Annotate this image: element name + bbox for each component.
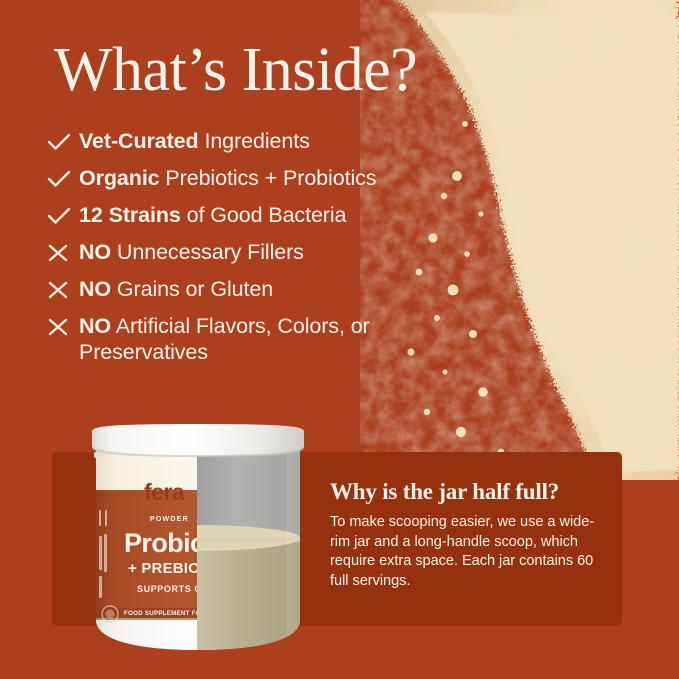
check-icon bbox=[45, 165, 75, 191]
page-title: What’s Inside? bbox=[54, 38, 417, 103]
product-name: Probiotic bbox=[124, 528, 197, 559]
list-item-rest: of Good Bacteria bbox=[181, 203, 347, 227]
list-item-emphasis: NO bbox=[79, 240, 111, 264]
list-item-text: NO Artificial Flavors, Colors, or Preser… bbox=[79, 313, 475, 365]
list-item-emphasis: Organic bbox=[79, 166, 160, 190]
info-card-title: Why is the jar half full? bbox=[330, 478, 610, 506]
list-item-emphasis: Vet-Curated bbox=[79, 129, 199, 153]
list-item-emphasis: NO bbox=[79, 277, 111, 301]
list-item-rest: Prebiotics + Probiotics bbox=[160, 166, 377, 190]
list-item-rest: Ingredients bbox=[199, 129, 310, 153]
list-item-rest: Grains or Gluten bbox=[111, 277, 273, 301]
list-item-text: 12 Strains of Good Bacteria bbox=[79, 202, 346, 228]
list-item-emphasis: NO bbox=[79, 314, 111, 338]
list-item-rest: Artificial Flavors, Colors, or Preservat… bbox=[79, 314, 370, 364]
product-subname: + PREBIOTIC bbox=[128, 560, 197, 577]
list-item: Vet-Curated Ingredients bbox=[45, 128, 475, 154]
list-item: Organic Prebiotics + Probiotics bbox=[45, 165, 475, 191]
product-claim: SUPPORTS GUT HEALTH bbox=[137, 584, 197, 594]
cross-icon bbox=[45, 276, 75, 302]
product-eyebrow: POWDER bbox=[150, 516, 189, 523]
cross-icon bbox=[45, 239, 75, 265]
promo-graphic: What’s Inside? Vet-Curated Ingredients O… bbox=[0, 0, 679, 679]
check-icon bbox=[45, 128, 75, 154]
list-item: NO Grains or Gluten bbox=[45, 276, 475, 302]
list-item-text: NO Unnecessary Fillers bbox=[79, 239, 304, 265]
list-item-text: NO Grains or Gluten bbox=[79, 276, 273, 302]
list-item: NO Artificial Flavors, Colors, or Preser… bbox=[45, 313, 475, 365]
cross-icon bbox=[45, 313, 75, 339]
list-item-text: Vet-Curated Ingredients bbox=[79, 128, 310, 154]
list-item: NO Unnecessary Fillers bbox=[45, 239, 475, 265]
check-icon bbox=[45, 202, 75, 228]
feature-list: Vet-Curated Ingredients Organic Prebioti… bbox=[45, 128, 475, 376]
product-footer: FOOD SUPPLEMENT FOR DOGS & CATS bbox=[124, 610, 197, 617]
info-card-body: To make scooping easier, we use a wide-r… bbox=[330, 513, 610, 591]
info-card-text: Why is the jar half full? To make scoopi… bbox=[330, 478, 610, 591]
product-jar-image: fera POWDER Probiotic + PREBIOTIC SUPPOR… bbox=[90, 424, 306, 656]
list-item: 12 Strains of Good Bacteria bbox=[45, 202, 475, 228]
list-item-text: Organic Prebiotics + Probiotics bbox=[79, 165, 376, 191]
list-item-emphasis: 12 Strains bbox=[79, 203, 181, 227]
list-item-rest: Unnecessary Fillers bbox=[111, 240, 304, 264]
product-brand: fera bbox=[144, 479, 184, 506]
